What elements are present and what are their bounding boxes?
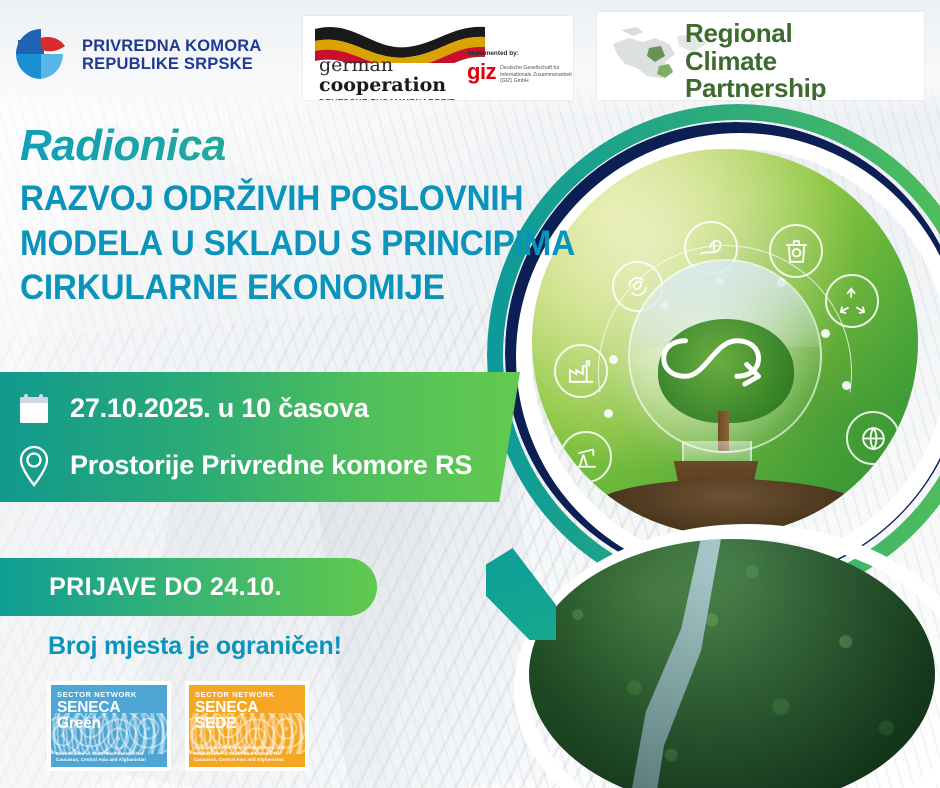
seneca-sede-kicker: Sector Network: [195, 690, 301, 699]
pkrs-line-1: PRIVREDNA KOMORA: [82, 37, 262, 55]
german-line-1: german: [319, 56, 455, 75]
seneca-green-name: SENECA Green: [57, 700, 163, 733]
registration-deadline-label: PRIJAVE DO 24.10.: [49, 573, 328, 602]
logo-bar: PRIVREDNA KOMORA REPUBLIKE SRPSKE german…: [0, 0, 940, 112]
registration-deadline-pill[interactable]: PRIJAVE DO 24.10.: [0, 558, 377, 616]
location-pin-icon: [14, 444, 54, 488]
forest-shading: [529, 539, 935, 788]
seneca-green-panel: Sector Network SENECA Green Environment …: [51, 685, 167, 767]
connector-dot: [821, 329, 830, 338]
recycle-arrows-icon: [825, 274, 879, 328]
rcp-line-1: Regional: [685, 20, 924, 48]
connector-dot: [609, 355, 618, 364]
page-title-line-2: MODELA U SKLADU S PRINCIPIMA: [20, 222, 548, 267]
seneca-green-kicker: Sector Network: [57, 690, 163, 699]
logo-regional-climate-partnership: Regional Climate Partnership GERMANY – W…: [597, 12, 924, 100]
poster-canvas: PRIVREDNA KOMORA REPUBLIKE SRPSKE german…: [0, 0, 940, 788]
implemented-by-label: Implemented by:: [468, 50, 519, 57]
event-info-banner: 27.10.2025. u 10 časova Prostorije Privr…: [0, 372, 520, 502]
pkrs-wordmark: PRIVREDNA KOMORA REPUBLIKE SRPSKE: [82, 37, 262, 74]
headline-block: Radionica RAZVOJ ODRŽIVIH POSLOVNIH MODE…: [16, 124, 576, 311]
hero-image-circular-economy: [532, 149, 918, 535]
event-kicker: Radionica: [20, 124, 576, 169]
oil-pump-icon: [560, 431, 612, 483]
pkrs-line-2: REPUBLIKE SRPSKE: [82, 55, 262, 73]
event-location: Prostorije Privredne komore RS: [70, 450, 472, 481]
logo-seneca-green: Sector Network SENECA Green Environment …: [47, 681, 171, 771]
logo-german-cooperation: german cooperation DEUTSCHE ZUSAMMENARBE…: [303, 16, 573, 100]
seneca-logo-row: Sector Network SENECA Green Environment …: [47, 681, 309, 771]
logo-privredna-komora: PRIVREDNA KOMORA REPUBLIKE SRPSKE: [10, 22, 295, 88]
seneca-sede-footer: Sustainable Economic Development and Emp…: [194, 745, 300, 763]
seneca-sede-name: SENECA SEDE: [195, 700, 301, 733]
seneca-green-footer: Environment in South-East Europe, the Ca…: [56, 751, 162, 763]
page-title-line-3: CIRKULARNE EKONOMIJE: [20, 266, 548, 311]
german-cooperation-wordmark: german cooperation DEUTSCHE ZUSAMMENARBE…: [319, 56, 455, 100]
german-line-3: DEUTSCHE ZUSAMMENARBEIT: [319, 98, 455, 100]
limited-seats-note: Broj mjesta je ograničen!: [48, 632, 342, 661]
seneca-sede-panel: Sector Network SENECA SEDE Sustainable E…: [189, 685, 305, 767]
event-location-row: Prostorije Privredne komore RS: [14, 444, 520, 488]
calendar-icon: [14, 387, 54, 431]
forest-image: [529, 539, 935, 788]
logo-giz: giz Deutsche Gesellschaft für Internatio…: [467, 62, 573, 85]
german-line-2: cooperation: [319, 76, 455, 95]
rcp-line-2: Climate Partnership: [685, 48, 924, 100]
rcp-wordmark: Regional Climate Partnership GERMANY – W…: [685, 20, 924, 100]
globe-icon: [846, 411, 900, 465]
seneca-sede-head: Sector Network SENECA SEDE: [195, 690, 301, 733]
seneca-green-head: Sector Network SENECA Green: [57, 690, 163, 733]
event-date-row: 27.10.2025. u 10 časova: [14, 387, 520, 431]
giz-subtitle: Deutsche Gesellschaft für Internationale…: [500, 62, 573, 85]
connector-dot: [604, 409, 613, 418]
connector-dot: [842, 381, 851, 390]
factory-icon: [554, 344, 608, 398]
logo-seneca-sede: Sector Network SENECA SEDE Sustainable E…: [185, 681, 309, 771]
page-title-line-1: RAZVOJ ODRŽIVIH POSLOVNIH: [20, 177, 548, 222]
circular-economy-infinity-icon: [644, 319, 802, 395]
pkrs-bird-icon: [10, 24, 72, 86]
event-date: 27.10.2025. u 10 časova: [70, 393, 369, 424]
giz-wordmark: giz: [467, 62, 496, 83]
